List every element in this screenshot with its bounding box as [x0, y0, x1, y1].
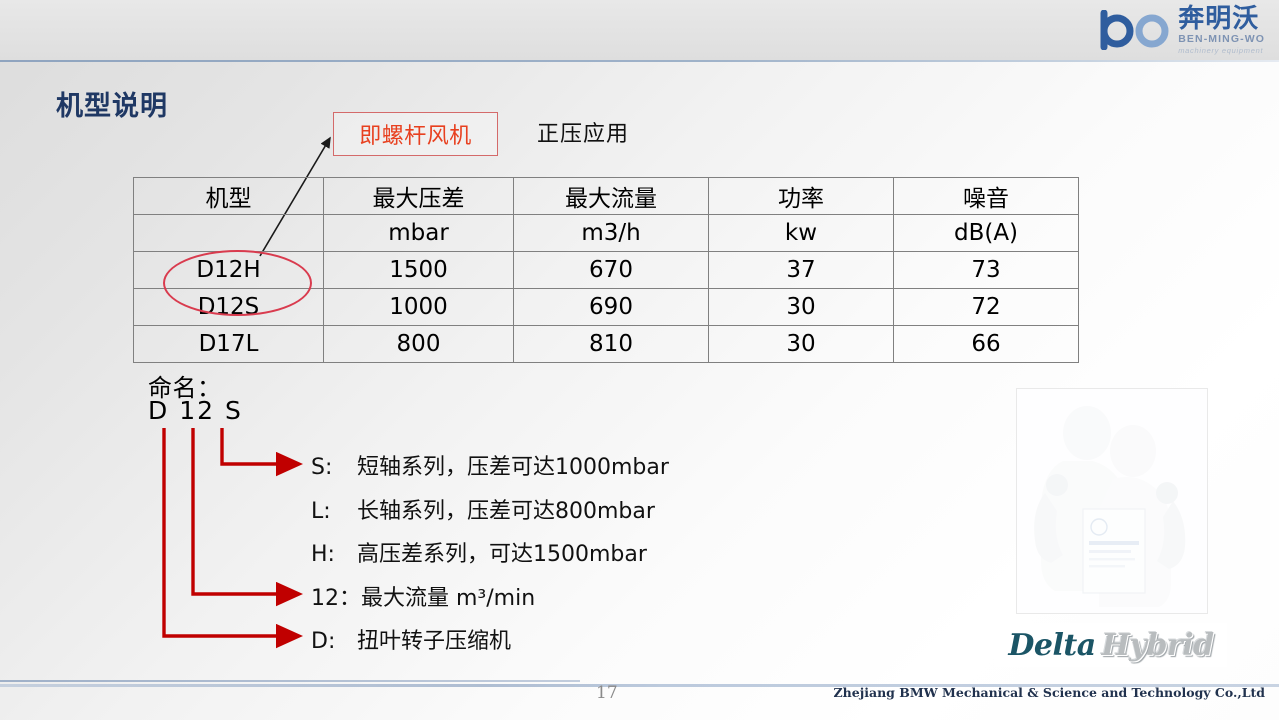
callout-box: 即螺杆风机	[333, 112, 498, 156]
legend-item-12: 12：最大流量 m³/min	[311, 580, 535, 612]
table-unit-cell: kw	[709, 215, 894, 252]
spec-table: 机型 最大压差 最大流量 功率 噪音 mbar m3/h kw dB(A) D1…	[133, 177, 1079, 363]
table-cell-pressure: 800	[324, 326, 514, 363]
table-header-cell: 最大流量	[514, 178, 709, 215]
table-cell-power: 30	[709, 326, 894, 363]
table-unit-cell: mbar	[324, 215, 514, 252]
legend-value: 扭叶转子压缩机	[357, 623, 511, 655]
legend-key: L:	[311, 499, 357, 524]
slide-canvas: 奔明沃 BEN-MING-WO machinery equipment 机型说明…	[0, 0, 1279, 720]
legend-key: S:	[311, 455, 357, 480]
table-cell-noise: 73	[894, 252, 1079, 289]
table-row: D12H 1500 670 37 73	[134, 252, 1079, 289]
table-header-row: 机型 最大压差 最大流量 功率 噪音	[134, 178, 1079, 215]
table-header-cell: 机型	[134, 178, 324, 215]
positive-pressure-note: 正压应用	[537, 116, 629, 148]
bo-monogram-icon	[1098, 10, 1172, 50]
legend-key: H:	[311, 542, 357, 567]
logo-chinese-name: 奔明沃	[1178, 6, 1259, 32]
table-cell-noise: 66	[894, 326, 1079, 363]
table-cell-pressure: 1000	[324, 289, 514, 326]
table-header-cell: 功率	[709, 178, 894, 215]
robot-photo	[1017, 389, 1207, 613]
table-cell-flow: 670	[514, 252, 709, 289]
table-cell-model: D12H	[134, 252, 324, 289]
table-header-cell: 最大压差	[324, 178, 514, 215]
hybrid-wordmark: Hybrid	[1102, 628, 1214, 663]
table-unit-cell: m3/h	[514, 215, 709, 252]
table-unit-row: mbar m3/h kw dB(A)	[134, 215, 1079, 252]
callout-label: 即螺杆风机	[359, 118, 472, 150]
page-number: 17	[596, 683, 618, 703]
footer-company-name: Zhejiang BMW Mechanical & Science and Te…	[834, 685, 1265, 700]
logo-english-name: BEN-MING-WO	[1178, 34, 1265, 45]
table-header-cell: 噪音	[894, 178, 1079, 215]
delta-wordmark: Delta	[1008, 628, 1095, 663]
logo-text-block: 奔明沃 BEN-MING-WO machinery equipment	[1178, 6, 1265, 54]
legend-item-d: D: 扭叶转子压缩机	[311, 623, 511, 655]
legend-value: 12：最大流量 m³/min	[311, 580, 535, 612]
delta-hybrid-logo: Delta Hybrid	[995, 623, 1227, 667]
naming-connector-lines	[150, 420, 330, 650]
legend-item-l: L: 长轴系列，压差可达800mbar	[311, 493, 655, 525]
legend-value: 短轴系列，压差可达1000mbar	[357, 449, 669, 481]
humanoid-robots-illustration	[1017, 389, 1207, 613]
table-cell-model: D17L	[134, 326, 324, 363]
table-row: D17L 800 810 30 66	[134, 326, 1079, 363]
table-cell-flow: 810	[514, 326, 709, 363]
page-title: 机型说明	[56, 84, 168, 123]
table-cell-flow: 690	[514, 289, 709, 326]
naming-code: D 12 S	[148, 396, 243, 425]
legend-value: 高压差系列，可达1500mbar	[357, 536, 647, 568]
header-divider	[0, 60, 1279, 62]
table-cell-power: 30	[709, 289, 894, 326]
table-unit-cell	[134, 215, 324, 252]
logo-tagline: machinery equipment	[1178, 47, 1263, 55]
table-cell-noise: 72	[894, 289, 1079, 326]
table-cell-pressure: 1500	[324, 252, 514, 289]
table-cell-model: D12S	[134, 289, 324, 326]
legend-item-s: S: 短轴系列，压差可达1000mbar	[311, 449, 669, 481]
table-unit-cell: dB(A)	[894, 215, 1079, 252]
table-row: D12S 1000 690 30 72	[134, 289, 1079, 326]
legend-value: 长轴系列，压差可达800mbar	[357, 493, 655, 525]
table-cell-power: 37	[709, 252, 894, 289]
company-logo: 奔明沃 BEN-MING-WO machinery equipment	[1047, 4, 1265, 56]
legend-item-h: H: 高压差系列，可达1500mbar	[311, 536, 647, 568]
legend-key: D:	[311, 629, 357, 654]
footer-divider-accent	[0, 680, 580, 682]
